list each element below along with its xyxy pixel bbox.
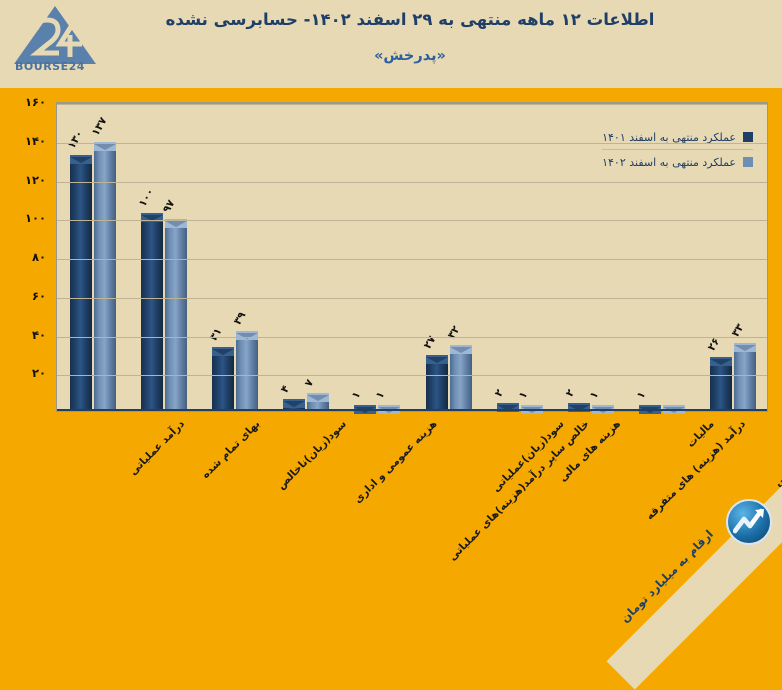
bar-value-label: ۱ — [635, 389, 649, 401]
bar-value-label: ۳۹ — [232, 310, 249, 327]
plot-area: ۱۳۰۱۳۷۱۰۰۹۷۳۱۳۹۴۷۱۱۲۷۳۲۲۱۲۱۱۲۶۳۳ عملکرد … — [56, 102, 768, 412]
x-axis-line — [57, 409, 767, 411]
bar[interactable] — [141, 217, 163, 411]
x-tick-label: سود(زیان)ناخالص — [275, 418, 349, 492]
bar-value-label: ۹۷ — [160, 198, 177, 215]
gridline — [57, 298, 767, 299]
y-tick-label: ۱۴۰ — [25, 134, 46, 148]
bar-cap — [212, 347, 234, 356]
bar[interactable] — [165, 223, 187, 411]
y-tick-label: ۱۶۰ — [25, 95, 46, 109]
page-subtitle: «پدرخش» — [110, 48, 710, 64]
y-tick-label: ۶۰ — [32, 289, 46, 303]
legend-item[interactable]: عملکرد منتهی به اسفند ۱۴۰۱ — [602, 126, 753, 148]
y-tick-label: ۴۰ — [32, 328, 46, 342]
bar-value-label: ۲ — [492, 388, 506, 400]
y-tick-label: ۸۰ — [32, 250, 46, 264]
bar-value-label: ۲ — [564, 388, 578, 400]
gridline — [57, 375, 767, 376]
gridline — [57, 104, 767, 105]
bar-group: ۴۷ — [283, 104, 329, 411]
bar-cap — [426, 355, 448, 364]
logo-wordmark: BOURSE24 — [4, 60, 96, 73]
bar-body — [236, 335, 258, 411]
bar-cap — [70, 155, 92, 164]
bar-cap — [283, 399, 305, 408]
bar-body — [710, 361, 732, 411]
x-tick-label: بهای تمام شده — [199, 418, 262, 481]
bar-cap — [450, 345, 472, 354]
bar-value-label: ۱۰۰ — [136, 187, 156, 210]
bar-body — [70, 159, 92, 411]
bar-body — [734, 347, 756, 411]
bar-body — [94, 146, 116, 411]
bar-group: ۲۱ — [497, 104, 543, 411]
chart-arrow-icon — [726, 499, 772, 545]
bar-value-label: ۱ — [516, 389, 530, 401]
bar-value-label: ۱ — [350, 389, 364, 401]
chart-legend: عملکرد منتهی به اسفند ۱۴۰۱ عملکرد منتهی … — [602, 126, 753, 173]
x-tick-label: درآمد عملیاتی — [127, 418, 187, 478]
x-tick-label: خالص سایر درآمد(هزینه)های عملیاتی — [447, 418, 592, 563]
bar-group: ۲۷۳۲ — [426, 104, 472, 411]
bar[interactable] — [734, 347, 756, 411]
bar-value-label: ۴ — [279, 384, 293, 396]
gridline — [57, 220, 767, 221]
bar-value-label: ۳۲ — [445, 324, 462, 341]
gridline — [57, 182, 767, 183]
x-tick-label: هزینه عمومی و اداری — [352, 418, 440, 506]
gridline — [57, 337, 767, 338]
bar[interactable] — [710, 361, 732, 411]
y-tick-label: ۲۰ — [32, 366, 46, 380]
x-tick-label: سود(زیان) خالص — [772, 418, 782, 489]
x-axis-labels: درآمد عملیاتیبهای تمام شدهسود(زیان)ناخال… — [56, 414, 768, 544]
legend-swatch-series-2 — [743, 157, 753, 167]
bar[interactable] — [450, 349, 472, 411]
bar-group: ۱۰۰۹۷ — [141, 104, 187, 411]
bar-body — [426, 359, 448, 411]
bar-value-label: ۲۶ — [706, 336, 723, 353]
legend-label-series-1: عملکرد منتهی به اسفند ۱۴۰۱ — [602, 131, 736, 144]
bar-value-label: ۱۳۷ — [89, 115, 109, 138]
bar-body — [450, 349, 472, 411]
bar-body — [141, 217, 163, 411]
bar[interactable] — [94, 146, 116, 411]
legend-label-series-2: عملکرد منتهی به اسفند ۱۴۰۲ — [602, 156, 736, 169]
legend-divider — [602, 149, 753, 150]
bar-group: ۱۱ — [354, 104, 400, 411]
bar[interactable] — [212, 351, 234, 411]
y-axis-labels: ۲۰۴۰۶۰۸۰۱۰۰۱۲۰۱۴۰۱۶۰ — [0, 102, 52, 412]
page-header: BOURSE24 اطلاعات ۱۲ ماهه منتهی به ۲۹ اسف… — [0, 0, 782, 88]
bar[interactable] — [236, 335, 258, 411]
gridline — [57, 259, 767, 260]
bar-value-label: ۱۳۰ — [65, 128, 85, 151]
chart-container: ۲۰۴۰۶۰۸۰۱۰۰۱۲۰۱۴۰۱۶۰ ۱۳۰۱۳۷۱۰۰۹۷۳۱۳۹۴۷۱۱… — [0, 88, 782, 553]
bar-value-label: ۱ — [588, 389, 602, 401]
bar-value-label: ۳۱ — [208, 326, 225, 343]
gridline — [57, 143, 767, 144]
bar[interactable] — [70, 159, 92, 411]
legend-item[interactable]: عملکرد منتهی به اسفند ۱۴۰۲ — [602, 151, 753, 173]
bar-body — [165, 223, 187, 411]
bar-cap — [734, 343, 756, 352]
bar-body — [212, 351, 234, 411]
bar-cap — [307, 393, 329, 402]
bar-group: ۳۱۳۹ — [212, 104, 258, 411]
bar-value-label: ۱ — [374, 389, 388, 401]
bar-value-label: ۷ — [303, 378, 317, 390]
bar-group: ۱۳۰۱۳۷ — [70, 104, 116, 411]
page-title: اطلاعات ۱۲ ماهه منتهی به ۲۹ اسفند ۱۴۰۲- … — [110, 10, 710, 29]
y-tick-label: ۱۰۰ — [25, 211, 46, 225]
y-tick-label: ۱۲۰ — [25, 173, 46, 187]
bar[interactable] — [426, 359, 448, 411]
bar-cap — [710, 357, 732, 366]
legend-swatch-series-1 — [743, 132, 753, 142]
